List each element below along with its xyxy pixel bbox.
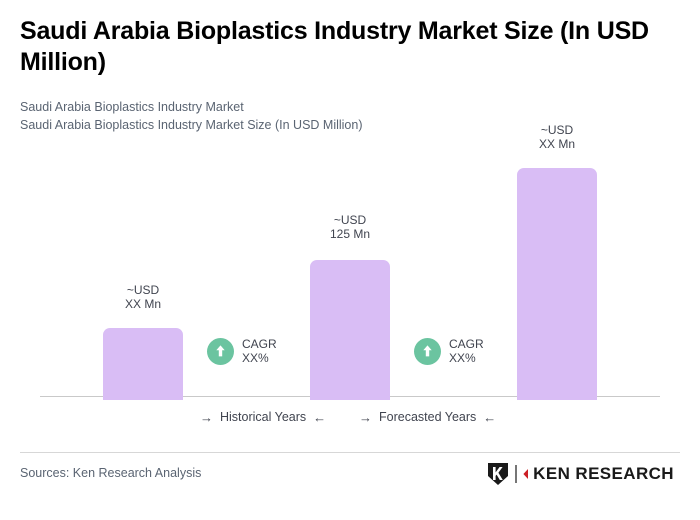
bar-value-label-1-line2: XX Mn	[83, 297, 203, 311]
bar-value-label-3-line2: XX Mn	[497, 137, 617, 151]
bar-value-label-2-line2: 125 Mn	[290, 227, 410, 241]
bar-value-label-2-line1: ~USD	[290, 213, 410, 227]
year-band-historical-label: Historical Years	[220, 410, 306, 424]
arrow-right-icon: →	[359, 411, 372, 424]
logo-divider-icon	[514, 464, 518, 484]
bar-1[interactable]	[103, 328, 183, 400]
bar-3[interactable]	[517, 168, 597, 400]
arrow-up-icon	[414, 338, 441, 365]
cagr-badge-1-line1: CAGR	[242, 337, 277, 351]
year-band-row: → Historical Years ← → Forecasted Years …	[0, 410, 700, 432]
cagr-badge-2-line2: XX%	[449, 351, 484, 365]
bar-value-label-3: ~USD XX Mn	[497, 123, 617, 151]
bar-value-label-1: ~USD XX Mn	[83, 283, 203, 311]
cagr-badge-2[interactable]: CAGR XX%	[414, 337, 484, 365]
arrow-up-icon	[207, 338, 234, 365]
shield-k-logo-icon	[487, 462, 509, 486]
logo-wordmark: KEN RESEARCH	[533, 464, 674, 484]
footer-divider	[20, 452, 680, 453]
cagr-badge-1[interactable]: CAGR XX%	[207, 337, 277, 365]
cagr-badge-2-text: CAGR XX%	[449, 337, 484, 365]
bar-value-label-1-line1: ~USD	[83, 283, 203, 297]
logo-red-triangle-icon	[523, 466, 528, 482]
cagr-badge-1-text: CAGR XX%	[242, 337, 277, 365]
bar-value-label-2: ~USD 125 Mn	[290, 213, 410, 241]
cagr-badge-2-line1: CAGR	[449, 337, 484, 351]
year-band-historical: → Historical Years ←	[200, 410, 326, 424]
arrow-right-icon: →	[200, 411, 213, 424]
bar-2[interactable]	[310, 260, 390, 400]
year-band-forecasted: → Forecasted Years ←	[359, 410, 496, 424]
ken-research-logo: KEN RESEARCH	[487, 462, 674, 486]
arrow-left-icon: ←	[313, 411, 326, 424]
year-band-forecasted-label: Forecasted Years	[379, 410, 476, 424]
bar-value-label-3-line1: ~USD	[497, 123, 617, 137]
sources-text: Sources: Ken Research Analysis	[20, 466, 201, 480]
chart-plot-area: ~USD XX Mn CAGR XX% ~USD 125 Mn CAGR XX%	[0, 0, 700, 400]
arrow-left-icon: ←	[483, 411, 496, 424]
cagr-badge-1-line2: XX%	[242, 351, 277, 365]
